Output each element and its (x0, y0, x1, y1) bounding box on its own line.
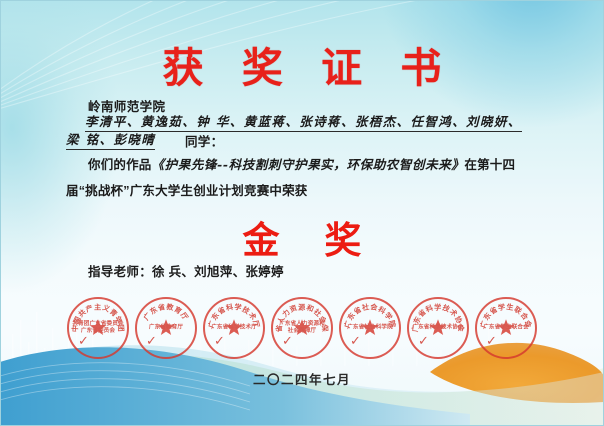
seal-inner-text-5: 广东省社会科学院 (341, 325, 399, 332)
seal-inner-text-3: 广东省科学技术厅 (205, 325, 263, 332)
page-title: 获 奖 证 书 (0, 34, 604, 94)
seal-check-icon-5: ✓ (350, 335, 364, 347)
seal-check-icon-4: ✓ (282, 335, 296, 347)
official-seal-4: 广东省人力资源和社会保障厅广东省人力资源和社会保障厅✓ (271, 297, 333, 359)
work-title: 《护果先锋--科技割刺守护果实，环保助农智创未来》 (152, 157, 465, 172)
seal-check-icon-3: ✓ (214, 335, 228, 347)
seal-check-icon-2: ✓ (146, 335, 160, 347)
body-line-1: 你们的作品《护果先锋--科技割刺守护果实，环保助农智创未来》在第十四 (88, 154, 515, 173)
body-prefix: 你们的作品 (88, 158, 152, 172)
seal-check-icon-6: ✓ (418, 335, 432, 347)
official-seal-7: 广东省学生联合会广东省学生联合会✓ (475, 297, 537, 359)
official-seals-row: 中国共产主义青年团共青团广东省委员会广东省委员会✓广东省教育厅广东省教育厅✓广东… (0, 297, 604, 359)
student-names-line-2: 梁 铭、彭晓晴 (66, 129, 155, 150)
seal-inner-text-2: 广东省教育厅 (137, 325, 195, 332)
official-seal-5: 广东省社会科学院广东省社会科学院✓ (339, 297, 401, 359)
body-line-2: 届“挑战杯”广东大学生创业计划竞赛中荣获 (66, 180, 308, 199)
advisors-line: 指导老师：徐 兵、刘旭萍、张婷婷 (88, 261, 284, 280)
issue-date: 二〇二四年七月 (0, 369, 604, 388)
students-suffix: 同学： (185, 131, 223, 150)
seal-inner-text-6: 广东省科学技术协会 (409, 325, 467, 332)
award-level: 金 奖 (0, 210, 604, 264)
seal-inner-text-7: 广东省学生联合会 (477, 325, 535, 332)
official-seal-3: 广东省科学技术厅广东省科学技术厅✓ (203, 297, 265, 359)
official-seal-1: 中国共产主义青年团共青团广东省委员会广东省委员会✓ (67, 297, 129, 359)
seal-check-icon-1: ✓ (78, 335, 92, 347)
official-seal-2: 广东省教育厅广东省教育厅✓ (135, 297, 197, 359)
certificate-page: 获 奖 证 书 岭南师范学院 李清平、黄逸茹、钟 华、黄蓝蒋、张诗蒋、张梧杰、任… (0, 0, 604, 426)
official-seal-6: 广东省科学技术协会广东省科学技术协会✓ (407, 297, 469, 359)
seal-check-icon-7: ✓ (486, 335, 500, 347)
body-suffix: 在第十四 (464, 158, 515, 172)
